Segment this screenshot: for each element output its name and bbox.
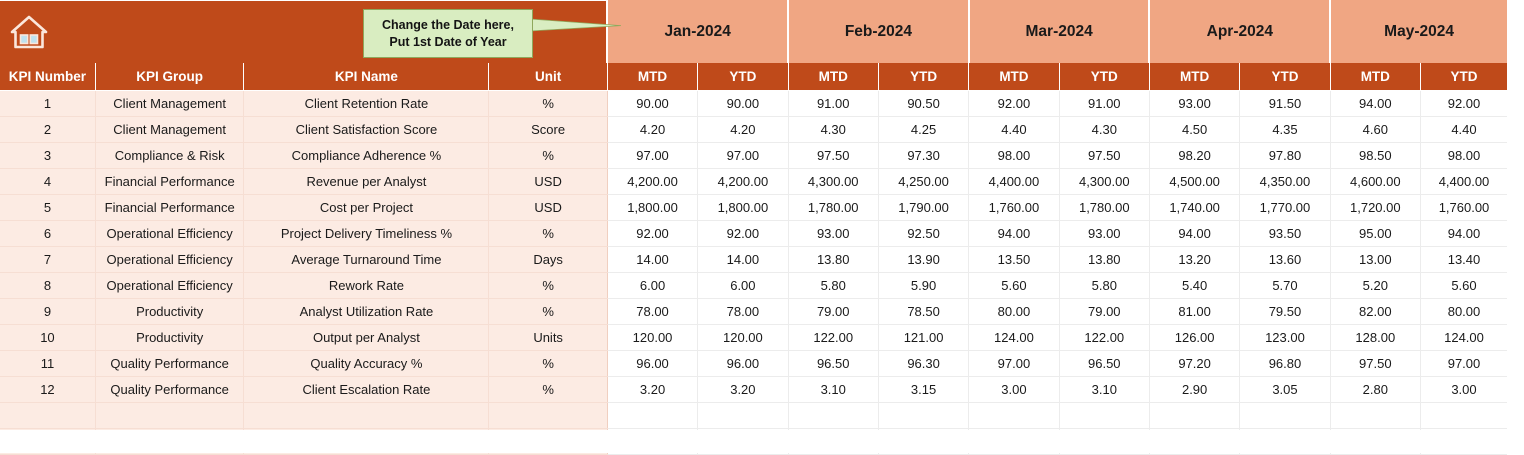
cell-value[interactable]: 1,780.00 — [788, 195, 878, 221]
cell-value[interactable]: 78.00 — [607, 299, 697, 325]
cell-kpi-name[interactable]: Average Turnaround Time — [244, 247, 489, 273]
cell-kpi-name[interactable] — [244, 403, 489, 429]
cell-unit[interactable]: % — [489, 351, 607, 377]
col-header-feb-ytd[interactable]: YTD — [878, 63, 968, 91]
cell-kpi-name[interactable]: Client Satisfaction Score — [244, 117, 489, 143]
month-header-feb[interactable]: Feb-2024 — [788, 1, 969, 64]
cell-value[interactable]: 78.00 — [698, 299, 788, 325]
callout-arrow-icon — [530, 17, 621, 33]
cell-kpi-name[interactable]: Compliance Adherence % — [244, 143, 489, 169]
col-header-kpi-group[interactable]: KPI Group — [95, 63, 244, 91]
cell-kpi-group[interactable]: Operational Efficiency — [95, 221, 244, 247]
sheet-bottom-strip — [0, 430, 1524, 453]
month-header-jan[interactable]: Jan-2024 — [607, 1, 788, 64]
cell-kpi-number[interactable]: 1 — [0, 91, 95, 117]
cell-unit[interactable]: Score — [489, 117, 607, 143]
cell-kpi-number[interactable]: 10 — [0, 325, 95, 351]
cell-kpi-group[interactable]: Quality Performance — [95, 377, 244, 403]
cell-value[interactable]: 14.00 — [607, 247, 697, 273]
kpi-table: Jan-2024 Feb-2024 Mar-2024 Apr-2024 May-… — [0, 0, 1507, 455]
cell-value[interactable]: 4,200.00 — [698, 169, 788, 195]
cell-value[interactable]: 13.50 — [969, 247, 1059, 273]
cell-value[interactable]: 4.40 — [1420, 117, 1507, 143]
cell-value[interactable]: 97.80 — [1240, 143, 1330, 169]
cell-value[interactable]: 97.20 — [1149, 351, 1239, 377]
cell-unit[interactable]: Days — [489, 247, 607, 273]
table-row[interactable]: 10ProductivityOutput per AnalystUnits120… — [0, 325, 1507, 351]
cell-kpi-name[interactable]: Client Escalation Rate — [244, 377, 489, 403]
cell-value[interactable]: 5.70 — [1240, 273, 1330, 299]
cell-value[interactable] — [878, 403, 968, 429]
cell-value[interactable]: 90.00 — [607, 91, 697, 117]
cell-value[interactable]: 90.50 — [878, 91, 968, 117]
cell-kpi-name[interactable]: Rework Rate — [244, 273, 489, 299]
cell-value[interactable]: 95.00 — [1330, 221, 1420, 247]
cell-value[interactable]: 94.00 — [1420, 221, 1507, 247]
cell-value[interactable]: 93.50 — [1240, 221, 1330, 247]
cell-value[interactable]: 92.00 — [698, 221, 788, 247]
cell-value[interactable] — [969, 403, 1059, 429]
table-head: Jan-2024 Feb-2024 Mar-2024 Apr-2024 May-… — [0, 1, 1507, 91]
cell-value[interactable] — [607, 403, 697, 429]
cell-value[interactable]: 3.20 — [607, 377, 697, 403]
cell-kpi-number[interactable]: 3 — [0, 143, 95, 169]
cell-value[interactable]: 98.00 — [1420, 143, 1507, 169]
col-header-mar-mtd[interactable]: MTD — [969, 63, 1059, 91]
cell-value[interactable]: 3.10 — [788, 377, 878, 403]
cell-value[interactable]: 126.00 — [1149, 325, 1239, 351]
cell-kpi-group[interactable]: Quality Performance — [95, 351, 244, 377]
table-row[interactable]: 6Operational EfficiencyProject Delivery … — [0, 221, 1507, 247]
cell-value[interactable]: 124.00 — [969, 325, 1059, 351]
cell-value[interactable]: 3.20 — [698, 377, 788, 403]
table-row[interactable]: 2Client ManagementClient Satisfaction Sc… — [0, 117, 1507, 143]
cell-kpi-number[interactable]: 2 — [0, 117, 95, 143]
cell-kpi-number[interactable] — [0, 403, 95, 429]
cell-value[interactable]: 13.80 — [788, 247, 878, 273]
cell-kpi-group[interactable]: Compliance & Risk — [95, 143, 244, 169]
cell-kpi-number[interactable]: 4 — [0, 169, 95, 195]
cell-value[interactable]: 4.40 — [969, 117, 1059, 143]
cell-unit[interactable]: USD — [489, 169, 607, 195]
cell-value[interactable]: 4.50 — [1149, 117, 1239, 143]
cell-kpi-name[interactable]: Revenue per Analyst — [244, 169, 489, 195]
cell-value[interactable]: 4.30 — [788, 117, 878, 143]
cell-unit[interactable] — [489, 403, 607, 429]
cell-value[interactable]: 5.20 — [1330, 273, 1420, 299]
col-header-mar-ytd[interactable]: YTD — [1059, 63, 1149, 91]
cell-kpi-name[interactable]: Project Delivery Timeliness % — [244, 221, 489, 247]
cell-value[interactable]: 4,250.00 — [878, 169, 968, 195]
cell-unit[interactable]: % — [489, 273, 607, 299]
cell-value[interactable]: 93.00 — [788, 221, 878, 247]
cell-value[interactable]: 81.00 — [1149, 299, 1239, 325]
cell-value[interactable]: 4,350.00 — [1240, 169, 1330, 195]
cell-value[interactable]: 78.50 — [878, 299, 968, 325]
cell-value[interactable]: 123.00 — [1240, 325, 1330, 351]
cell-unit[interactable]: USD — [489, 195, 607, 221]
cell-kpi-name[interactable]: Cost per Project — [244, 195, 489, 221]
table-row[interactable]: 11Quality PerformanceQuality Accuracy %%… — [0, 351, 1507, 377]
column-header-row: KPI Number KPI Group KPI Name Unit MTD Y… — [0, 63, 1507, 91]
cell-value[interactable] — [1149, 403, 1239, 429]
cell-value[interactable]: 97.00 — [1420, 351, 1507, 377]
cell-unit[interactable]: Units — [489, 325, 607, 351]
cell-value[interactable]: 13.90 — [878, 247, 968, 273]
cell-value[interactable]: 79.50 — [1240, 299, 1330, 325]
cell-value[interactable]: 1,740.00 — [1149, 195, 1239, 221]
cell-value[interactable]: 4.35 — [1240, 117, 1330, 143]
cell-value[interactable]: 1,790.00 — [878, 195, 968, 221]
cell-value[interactable]: 6.00 — [607, 273, 697, 299]
cell-value[interactable]: 93.00 — [1059, 221, 1149, 247]
cell-value[interactable]: 5.40 — [1149, 273, 1239, 299]
cell-value[interactable]: 96.50 — [788, 351, 878, 377]
table-row[interactable]: 4Financial PerformanceRevenue per Analys… — [0, 169, 1507, 195]
cell-value[interactable]: 120.00 — [698, 325, 788, 351]
cell-value[interactable]: 90.00 — [698, 91, 788, 117]
cell-value[interactable]: 4,400.00 — [1420, 169, 1507, 195]
cell-kpi-number[interactable]: 5 — [0, 195, 95, 221]
table-body: 1Client ManagementClient Retention Rate%… — [0, 91, 1507, 455]
cell-value[interactable]: 4.25 — [878, 117, 968, 143]
cell-value[interactable]: 94.00 — [1330, 91, 1420, 117]
cell-value[interactable]: 6.00 — [698, 273, 788, 299]
cell-value[interactable]: 92.00 — [1420, 91, 1507, 117]
col-header-may-ytd[interactable]: YTD — [1420, 63, 1507, 91]
cell-value[interactable]: 4.20 — [698, 117, 788, 143]
cell-value[interactable]: 94.00 — [1149, 221, 1239, 247]
cell-value[interactable]: 91.00 — [1059, 91, 1149, 117]
cell-value[interactable]: 3.05 — [1240, 377, 1330, 403]
cell-kpi-name[interactable]: Analyst Utilization Rate — [244, 299, 489, 325]
table-row[interactable]: 8Operational EfficiencyRework Rate%6.006… — [0, 273, 1507, 299]
cell-kpi-name[interactable]: Output per Analyst — [244, 325, 489, 351]
cell-kpi-number[interactable]: 9 — [0, 299, 95, 325]
cell-value[interactable]: 98.50 — [1330, 143, 1420, 169]
callout-line-2: Put 1st Date of Year — [389, 34, 506, 51]
cell-value[interactable]: 121.00 — [878, 325, 968, 351]
callout-change-date[interactable]: Change the Date here, Put 1st Date of Ye… — [363, 9, 533, 58]
cell-kpi-group[interactable]: Productivity — [95, 325, 244, 351]
col-header-kpi-number[interactable]: KPI Number — [0, 63, 95, 91]
col-header-jan-ytd[interactable]: YTD — [698, 63, 788, 91]
cell-value[interactable]: 97.50 — [1059, 143, 1149, 169]
cell-value[interactable]: 96.00 — [607, 351, 697, 377]
table-row[interactable]: 12Quality PerformanceClient Escalation R… — [0, 377, 1507, 403]
cell-value[interactable]: 13.20 — [1149, 247, 1239, 273]
table-row[interactable]: 1Client ManagementClient Retention Rate%… — [0, 91, 1507, 117]
cell-value[interactable]: 80.00 — [969, 299, 1059, 325]
cell-kpi-number[interactable]: 12 — [0, 377, 95, 403]
cell-value[interactable]: 120.00 — [607, 325, 697, 351]
cell-kpi-number[interactable]: 7 — [0, 247, 95, 273]
cell-value[interactable]: 97.00 — [969, 351, 1059, 377]
cell-kpi-group[interactable] — [95, 403, 244, 429]
cell-value[interactable]: 4,300.00 — [788, 169, 878, 195]
cell-value[interactable]: 1,800.00 — [607, 195, 697, 221]
table-row-empty[interactable] — [0, 403, 1507, 429]
cell-kpi-group[interactable]: Client Management — [95, 117, 244, 143]
cell-value[interactable]: 97.00 — [607, 143, 697, 169]
table-row[interactable]: 7Operational EfficiencyAverage Turnaroun… — [0, 247, 1507, 273]
cell-value[interactable]: 96.50 — [1059, 351, 1149, 377]
cell-value[interactable]: 1,760.00 — [969, 195, 1059, 221]
cell-kpi-number[interactable]: 11 — [0, 351, 95, 377]
cell-value[interactable]: 79.00 — [1059, 299, 1149, 325]
cell-kpi-number[interactable]: 8 — [0, 273, 95, 299]
cell-kpi-group[interactable]: Operational Efficiency — [95, 247, 244, 273]
cell-value[interactable]: 5.60 — [1420, 273, 1507, 299]
month-header-mar[interactable]: Mar-2024 — [969, 1, 1150, 64]
cell-value[interactable]: 96.30 — [878, 351, 968, 377]
cell-value[interactable]: 92.50 — [878, 221, 968, 247]
cell-value[interactable]: 79.00 — [788, 299, 878, 325]
cell-value[interactable]: 14.00 — [698, 247, 788, 273]
cell-value[interactable] — [1059, 403, 1149, 429]
cell-unit[interactable]: % — [489, 377, 607, 403]
cell-value[interactable]: 5.80 — [788, 273, 878, 299]
cell-value[interactable] — [1330, 403, 1420, 429]
cell-value[interactable]: 13.40 — [1420, 247, 1507, 273]
cell-unit[interactable]: % — [489, 299, 607, 325]
cell-value[interactable]: 13.60 — [1240, 247, 1330, 273]
cell-value[interactable]: 92.00 — [969, 91, 1059, 117]
cell-value[interactable]: 4,600.00 — [1330, 169, 1420, 195]
cell-value[interactable]: 93.00 — [1149, 91, 1239, 117]
cell-value[interactable]: 96.80 — [1240, 351, 1330, 377]
cell-value[interactable]: 4,500.00 — [1149, 169, 1239, 195]
cell-value[interactable]: 128.00 — [1330, 325, 1420, 351]
cell-kpi-group[interactable]: Productivity — [95, 299, 244, 325]
cell-value[interactable]: 1,770.00 — [1240, 195, 1330, 221]
table-row[interactable]: 3Compliance & RiskCompliance Adherence %… — [0, 143, 1507, 169]
col-header-jan-mtd[interactable]: MTD — [607, 63, 697, 91]
month-header-may[interactable]: May-2024 — [1330, 1, 1507, 64]
cell-value[interactable]: 13.80 — [1059, 247, 1149, 273]
cell-value[interactable]: 97.50 — [1330, 351, 1420, 377]
month-header-row: Jan-2024 Feb-2024 Mar-2024 Apr-2024 May-… — [0, 1, 1507, 64]
cell-value[interactable]: 4,200.00 — [607, 169, 697, 195]
cell-value[interactable]: 80.00 — [1420, 299, 1507, 325]
cell-value[interactable]: 5.80 — [1059, 273, 1149, 299]
cell-kpi-group[interactable]: Client Management — [95, 91, 244, 117]
cell-value[interactable]: 122.00 — [1059, 325, 1149, 351]
home-button-cell[interactable] — [0, 1, 95, 64]
cell-value[interactable]: 96.00 — [698, 351, 788, 377]
kpi-dashboard-sheet: Jan-2024 Feb-2024 Mar-2024 Apr-2024 May-… — [0, 0, 1524, 453]
cell-value[interactable]: 4,400.00 — [969, 169, 1059, 195]
cell-value[interactable] — [1420, 403, 1507, 429]
cell-value[interactable]: 2.90 — [1149, 377, 1239, 403]
cell-unit[interactable]: % — [489, 91, 607, 117]
table-row[interactable]: 5Financial PerformanceCost per ProjectUS… — [0, 195, 1507, 221]
cell-value[interactable]: 4.60 — [1330, 117, 1420, 143]
col-header-unit[interactable]: Unit — [489, 63, 607, 91]
cell-kpi-group[interactable]: Operational Efficiency — [95, 273, 244, 299]
cell-value[interactable]: 4.20 — [607, 117, 697, 143]
cell-unit[interactable]: % — [489, 143, 607, 169]
cell-value[interactable]: 122.00 — [788, 325, 878, 351]
cell-value[interactable]: 1,760.00 — [1420, 195, 1507, 221]
cell-value[interactable]: 91.50 — [1240, 91, 1330, 117]
cell-value[interactable]: 97.00 — [698, 143, 788, 169]
month-header-apr[interactable]: Apr-2024 — [1149, 1, 1330, 64]
table-row[interactable]: 9ProductivityAnalyst Utilization Rate%78… — [0, 299, 1507, 325]
cell-value[interactable]: 3.00 — [1420, 377, 1507, 403]
cell-kpi-name[interactable]: Quality Accuracy % — [244, 351, 489, 377]
cell-value[interactable]: 97.30 — [878, 143, 968, 169]
cell-value[interactable]: 2.80 — [1330, 377, 1420, 403]
cell-value[interactable]: 1,800.00 — [698, 195, 788, 221]
cell-value[interactable] — [1240, 403, 1330, 429]
cell-kpi-number[interactable]: 6 — [0, 221, 95, 247]
col-header-apr-mtd[interactable]: MTD — [1149, 63, 1239, 91]
cell-value[interactable]: 4,300.00 — [1059, 169, 1149, 195]
cell-kpi-group[interactable]: Financial Performance — [95, 169, 244, 195]
col-header-kpi-name[interactable]: KPI Name — [244, 63, 489, 91]
cell-value[interactable]: 91.00 — [788, 91, 878, 117]
cell-unit[interactable]: % — [489, 221, 607, 247]
cell-value[interactable] — [698, 403, 788, 429]
col-header-may-mtd[interactable]: MTD — [1330, 63, 1420, 91]
cell-value[interactable]: 98.20 — [1149, 143, 1239, 169]
cell-value[interactable]: 3.00 — [969, 377, 1059, 403]
cell-value[interactable]: 3.15 — [878, 377, 968, 403]
cell-value[interactable] — [788, 403, 878, 429]
cell-value[interactable]: 4.30 — [1059, 117, 1149, 143]
cell-kpi-group[interactable]: Financial Performance — [95, 195, 244, 221]
cell-value[interactable]: 82.00 — [1330, 299, 1420, 325]
cell-value[interactable]: 1,720.00 — [1330, 195, 1420, 221]
cell-kpi-name[interactable]: Client Retention Rate — [244, 91, 489, 117]
cell-value[interactable]: 5.60 — [969, 273, 1059, 299]
cell-value[interactable]: 13.00 — [1330, 247, 1420, 273]
cell-value[interactable]: 5.90 — [878, 273, 968, 299]
callout-line-1: Change the Date here, — [382, 17, 514, 34]
home-icon[interactable] — [9, 14, 49, 50]
cell-value[interactable]: 97.50 — [788, 143, 878, 169]
cell-value[interactable]: 92.00 — [607, 221, 697, 247]
col-header-feb-mtd[interactable]: MTD — [788, 63, 878, 91]
cell-value[interactable]: 1,780.00 — [1059, 195, 1149, 221]
cell-value[interactable]: 3.10 — [1059, 377, 1149, 403]
cell-value[interactable]: 94.00 — [969, 221, 1059, 247]
cell-value[interactable]: 98.00 — [969, 143, 1059, 169]
col-header-apr-ytd[interactable]: YTD — [1240, 63, 1330, 91]
cell-value[interactable]: 124.00 — [1420, 325, 1507, 351]
